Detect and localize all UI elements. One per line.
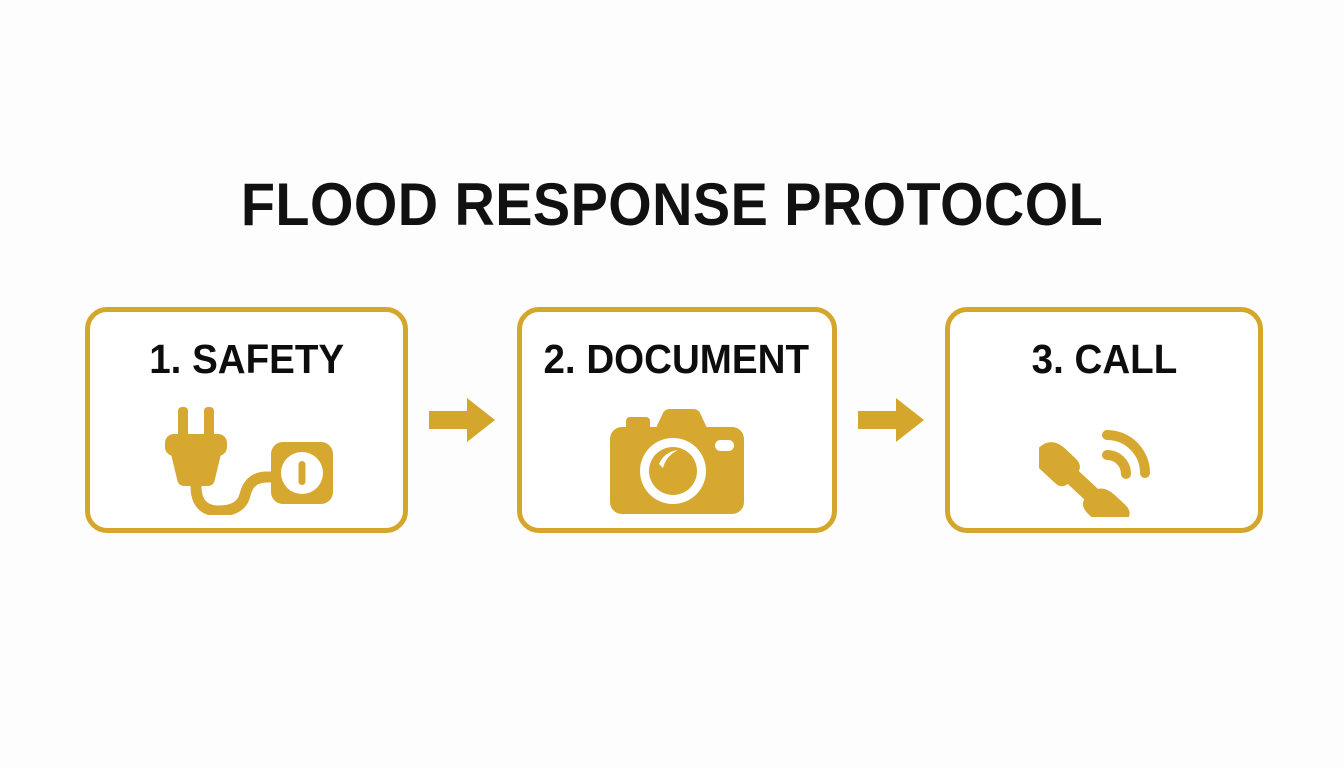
step-label-document: 2. DOCUMENT — [544, 337, 810, 381]
camera-icon — [610, 408, 744, 514]
connector-1 — [408, 307, 517, 533]
flood-response-protocol-infographic: FLOOD RESPONSE PROTOCOL 1. SAFETY — [0, 0, 1344, 768]
step-label-safety: 1. SAFETY — [149, 337, 344, 381]
step-card-document[interactable]: 2. DOCUMENT — [517, 307, 837, 533]
step-card-safety[interactable]: 1. SAFETY — [85, 307, 408, 533]
step-icon-document — [610, 393, 744, 528]
page-title: FLOOD RESPONSE PROTOCOL — [47, 172, 1297, 238]
process-flow: 1. SAFETY — [85, 307, 1263, 533]
step-icon-call — [1039, 393, 1169, 528]
step-icon-safety — [159, 393, 334, 528]
arrow-right-icon — [429, 398, 495, 442]
step-label-call: 3. CALL — [1031, 337, 1177, 381]
connector-2 — [837, 307, 946, 533]
arrow-right-icon — [858, 398, 924, 442]
step-card-call[interactable]: 3. CALL — [945, 307, 1263, 533]
ringing-phone-icon — [1039, 405, 1169, 517]
power-plug-unplugged-icon — [159, 407, 334, 515]
